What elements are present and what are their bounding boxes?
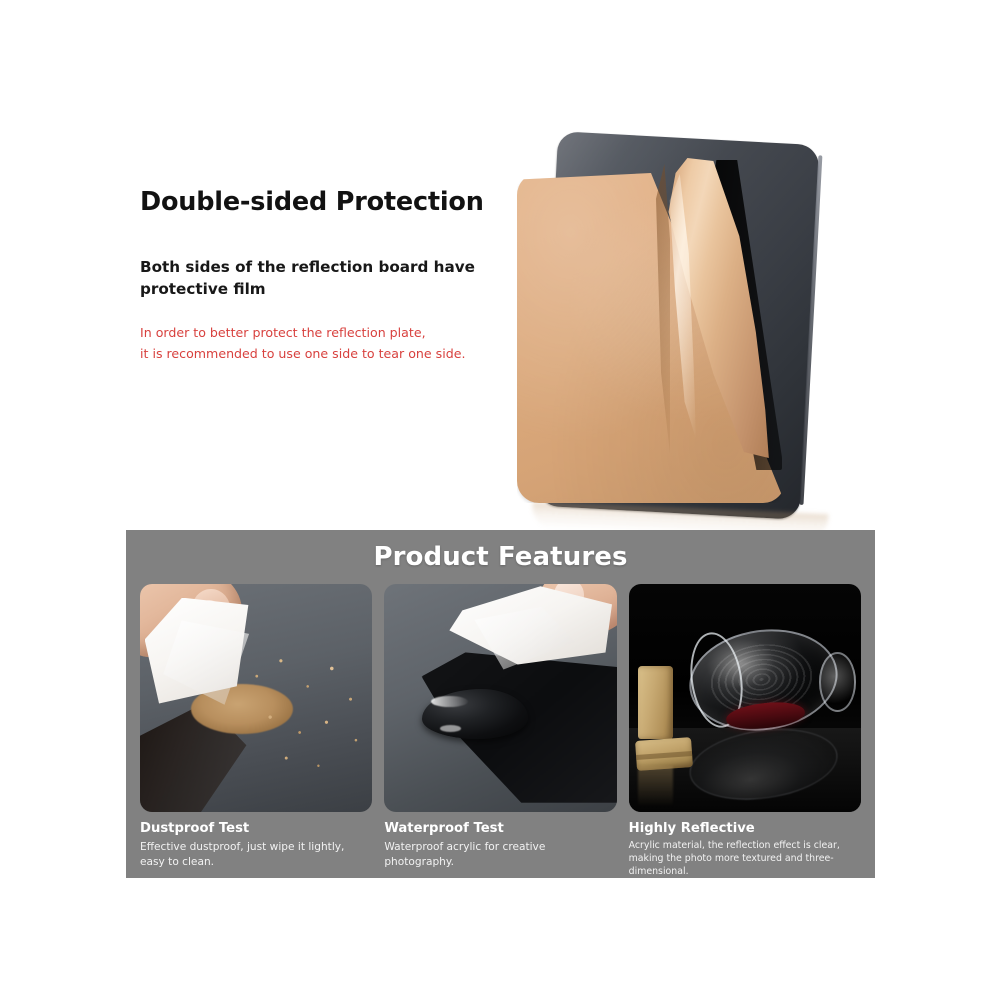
feature-description: Effective dustproof, just wipe it lightl… [140, 840, 372, 870]
photo-waterproof-test [384, 584, 616, 812]
hero-subtitle: Both sides of the reflection board have … [140, 257, 510, 300]
cork-standing [638, 666, 673, 739]
features-row: Dustproof Test Effective dustproof, just… [126, 572, 875, 879]
photo-highly-reflective [629, 584, 861, 812]
feature-card-reflective: Highly Reflective Acrylic material, the … [629, 584, 861, 879]
feature-title: Dustproof Test [140, 821, 372, 837]
features-heading: Product Features [126, 530, 875, 572]
hero-note-line-2: it is recommended to use one side to tea… [140, 346, 465, 361]
page-title: Double-sided Protection [140, 188, 520, 217]
photo-dustproof-test [140, 584, 372, 812]
sawdust-particles [238, 648, 373, 776]
droplet-highlight [431, 696, 468, 707]
hero-section: Double-sided Protection Both sides of th… [0, 0, 1000, 530]
feature-description: Acrylic material, the reflection effect … [629, 840, 861, 879]
feature-title: Highly Reflective [629, 821, 861, 837]
product-features-panel: Product Features Dustproof Test Effectiv… [126, 530, 875, 878]
cork-reflection [638, 766, 673, 807]
hero-note-line-1: In order to better protect the reflectio… [140, 325, 426, 340]
wine-glass-base [819, 652, 856, 711]
feature-title: Waterproof Test [384, 821, 616, 837]
hero-copy-block: Double-sided Protection Both sides of th… [140, 188, 520, 364]
feature-description: Waterproof acrylic for creative photogra… [384, 840, 616, 870]
feature-card-dustproof: Dustproof Test Effective dustproof, just… [140, 584, 372, 879]
product-board-illustration [470, 120, 870, 530]
hero-note: In order to better protect the reflectio… [140, 323, 520, 364]
feature-card-waterproof: Waterproof Test Waterproof acrylic for c… [384, 584, 616, 879]
